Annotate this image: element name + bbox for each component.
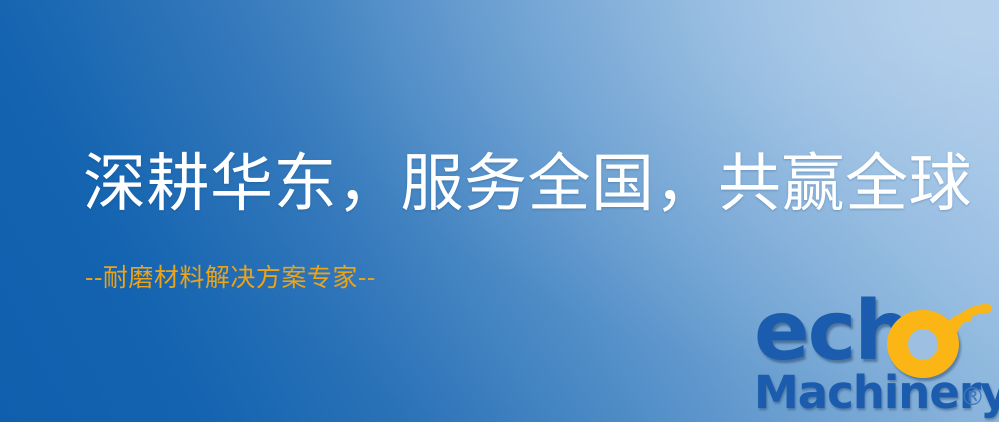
banner-subtitle: --耐磨材料解决方案专家-- xyxy=(85,265,376,290)
registered-trademark-mark: ® xyxy=(960,384,985,409)
company-logo[interactable]: ech M xyxy=(752,296,999,422)
hero-banner: 深耕华东，服务全国，共赢全球 --耐磨材料解决方案专家-- ech xyxy=(0,0,999,422)
banner-headline: 深耕华东，服务全国，共赢全球 xyxy=(83,152,972,215)
signal-waves-icon xyxy=(934,292,999,362)
